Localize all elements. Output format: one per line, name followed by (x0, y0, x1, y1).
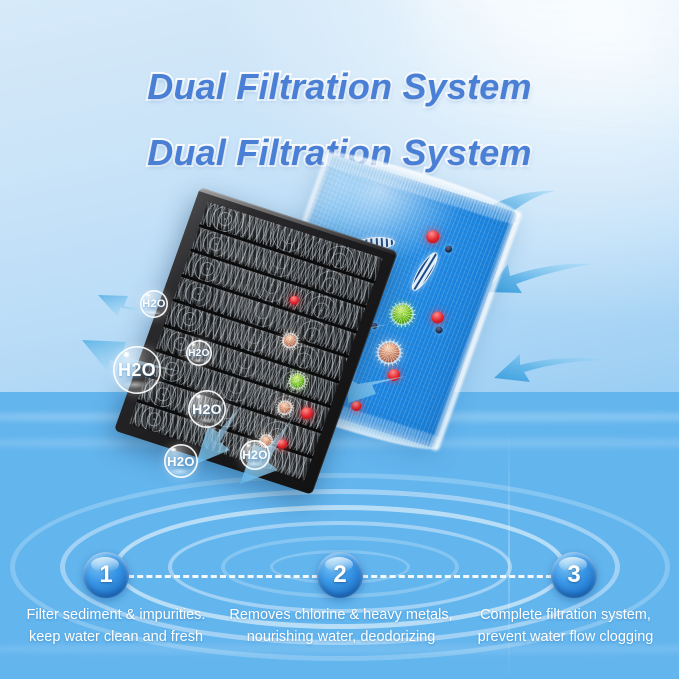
bacteria-rod-icon (408, 249, 442, 293)
bacteria-dot-icon (304, 364, 316, 375)
badge-gloss (559, 557, 587, 572)
cartridge-frame-highlight (199, 187, 398, 255)
bacteria-dot-icon (327, 263, 340, 275)
carbon-granule-channel (182, 251, 365, 330)
badge-gloss (91, 557, 119, 572)
captured-virus-green-icon (289, 373, 306, 389)
h2o-bubble-1: H2O (140, 290, 168, 318)
bacteria-dot-icon (430, 310, 445, 325)
captured-particle-icon (288, 295, 300, 306)
page-title-wrap: Dual Filtration System Dual Filtration S… (0, 66, 679, 116)
capture-flow-arrow-1 (300, 268, 366, 310)
capture-flow-arrow-2 (322, 320, 392, 362)
step-caption-2-line1: Removes chlorine & heavy metals, (226, 604, 456, 626)
purified-water-arrow-1 (96, 286, 172, 326)
step-badge-2[interactable]: 2 (317, 552, 363, 598)
step-caption-2: Removes chlorine & heavy metals, nourish… (226, 604, 456, 648)
h2o-bubble-2: H2O (186, 340, 212, 366)
bacteria-dot-icon (359, 282, 374, 297)
infographic-canvas: Dual Filtration System Dual Filtration S… (0, 0, 679, 679)
sponge-edge-highlight-left (242, 151, 333, 393)
step-caption-3-line1: Complete filtration system, (452, 604, 679, 626)
step-caption-1-line2: keep water clean and fresh (0, 626, 232, 648)
step-badge-3[interactable]: 3 (551, 552, 597, 598)
h2o-bubble-3: H2O (113, 346, 161, 394)
bacteria-dot-icon (386, 368, 401, 383)
bacteria-rod-icon (354, 236, 395, 252)
bacteria-dot-icon (424, 229, 441, 245)
water-inflow-arrow-1 (452, 188, 558, 266)
purified-water-arrow-2 (78, 330, 184, 380)
captured-virus-spiky-icon (282, 333, 297, 348)
step-connector-2 (362, 575, 552, 578)
carbon-granule-channel (165, 301, 348, 380)
particle-dark-icon (370, 322, 378, 329)
process-steps: 1 2 3 Filter sediment & impurities. keep… (0, 552, 679, 679)
step-caption-1-line1: Filter sediment & impurities. (0, 604, 232, 626)
particle-dark-icon (435, 326, 444, 335)
carbon-granule-channel (200, 201, 383, 280)
step-caption-3: Complete filtration system, prevent wate… (452, 604, 679, 648)
bacteria-dot-icon (337, 339, 351, 353)
virus-spiky-icon (333, 366, 351, 383)
page-title-outline: Dual Filtration System (0, 132, 679, 174)
step-badge-1[interactable]: 1 (83, 552, 129, 598)
step-caption-3-line2: prevent water flow clogging (452, 626, 679, 648)
light-beam-decoration (391, 0, 679, 250)
virus-green-icon (390, 302, 414, 326)
step-caption-1: Filter sediment & impurities. keep water… (0, 604, 232, 648)
carbon-granule-channel (173, 276, 356, 355)
bacteria-dot-icon (382, 259, 392, 269)
virus-spiky-icon (376, 340, 402, 365)
step-caption-2-line2: nourishing water, deodorizing (226, 626, 456, 648)
water-inflow-arrow-2 (468, 258, 596, 316)
badge-gloss (325, 557, 353, 572)
particle-dark-icon (444, 245, 453, 254)
page-title: Dual Filtration System (0, 66, 679, 108)
step-connector-1 (128, 575, 318, 578)
carbon-granule-channel (191, 226, 374, 305)
